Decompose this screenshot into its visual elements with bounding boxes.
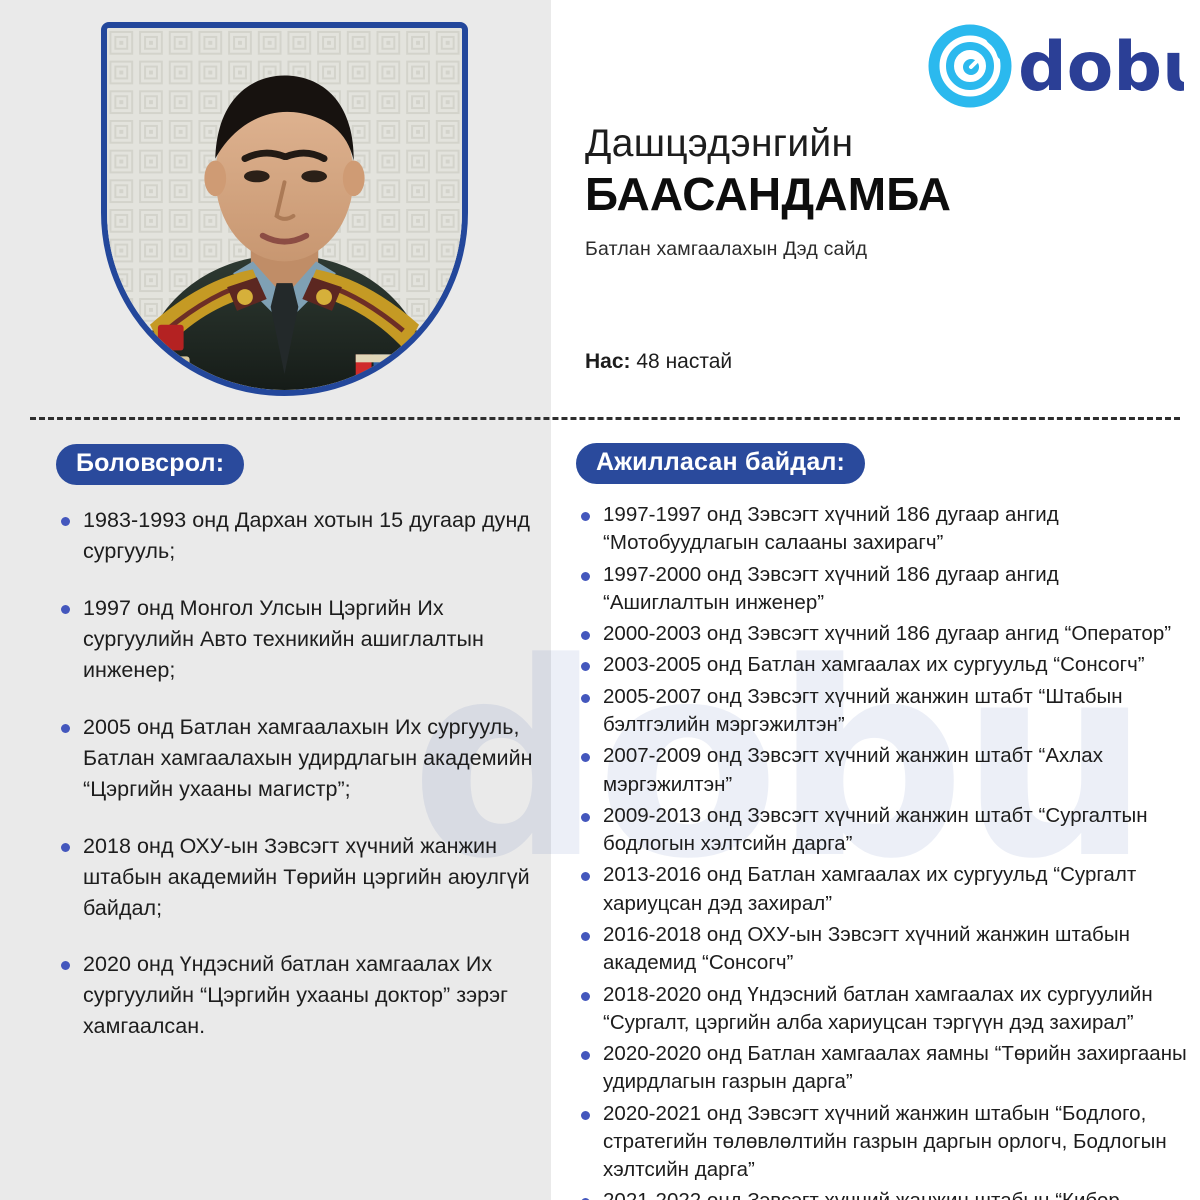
profile-card: dobu — [0, 0, 1200, 1200]
education-list: 1983-1993 онд Дархан хотын 15 дугаар дун… — [56, 505, 536, 1042]
job-title: Батлан хамгаалахын Дэд сайд — [585, 238, 1185, 261]
age-value: 48 настай — [636, 350, 732, 373]
list-item: 2009-2013 онд Зэвсэгт хүчний жанжин штаб… — [576, 802, 1188, 859]
list-item: 1997 онд Монгол Улсын Цэргийн Их сургуул… — [56, 593, 536, 686]
list-item: 2020-2020 онд Батлан хамгаалах яамны “Тө… — [576, 1040, 1188, 1097]
age-label: Нас: — [585, 350, 631, 373]
list-item: 2021-2022 онд Зэвсэгт хүчний жанжин штаб… — [576, 1187, 1188, 1200]
list-item: 1997-1997 онд Зэвсэгт хүчний 186 дугаар … — [576, 501, 1188, 558]
portrait-shield-frame — [101, 22, 468, 396]
list-item: 2005-2007 онд Зэвсэгт хүчний жанжин штаб… — [576, 683, 1188, 740]
age-row: Нас: 48 настай — [585, 350, 732, 374]
portrait-photo — [107, 28, 462, 390]
experience-heading: Ажилласан байдал: — [576, 443, 865, 484]
list-item: 2000-2003 онд Зэвсэгт хүчний 186 дугаар … — [576, 620, 1188, 648]
experience-list: 1997-1997 онд Зэвсэгт хүчний 186 дугаар … — [576, 501, 1188, 1200]
list-item: 2003-2005 онд Батлан хамгаалах их сургуу… — [576, 651, 1188, 679]
list-item: 2018-2020 онд Үндэсний батлан хамгаалах … — [576, 981, 1188, 1038]
dobu-logo[interactable]: dobu — [926, 16, 1188, 110]
portrait — [101, 22, 468, 396]
list-item: 1997-2000 онд Зэвсэгт хүчний 186 дугаар … — [576, 561, 1188, 618]
list-item: 2016-2018 онд ОХУ-ын Зэвсэгт хүчний жанж… — [576, 921, 1188, 978]
list-item: 2020-2021 онд Зэвсэгт хүчний жанжин штаб… — [576, 1100, 1188, 1185]
education-heading: Боловсрол: — [56, 444, 244, 485]
list-item: 2013-2016 онд Батлан хамгаалах их сургуу… — [576, 861, 1188, 918]
svg-text:dobu: dobu — [1018, 28, 1184, 107]
list-item: 2005 онд Батлан хамгаалахын Их сургууль,… — [56, 712, 536, 805]
last-name: БААСАНДАМБА — [585, 168, 1185, 221]
list-item: 2018 онд ОХУ-ын Зэвсэгт хүчний жанжин шт… — [56, 831, 536, 924]
header-text: Дашцэдэнгийн БААСАНДАМБА Батлан хамгаала… — [585, 122, 1185, 261]
education-section: Боловсрол: 1983-1993 онд Дархан хотын 15… — [56, 444, 536, 1042]
first-name: Дашцэдэнгийн — [585, 122, 1185, 166]
list-item: 2020 онд Үндэсний батлан хамгаалах Их су… — [56, 949, 536, 1042]
spiral-target-icon — [934, 30, 1006, 102]
list-item: 1983-1993 онд Дархан хотын 15 дугаар дун… — [56, 505, 536, 567]
dashed-divider — [30, 417, 1180, 420]
list-item: 2007-2009 онд Зэвсэгт хүчний жанжин штаб… — [576, 742, 1188, 799]
experience-section: Ажилласан байдал: 1997-1997 онд Зэвсэгт … — [576, 443, 1188, 1200]
